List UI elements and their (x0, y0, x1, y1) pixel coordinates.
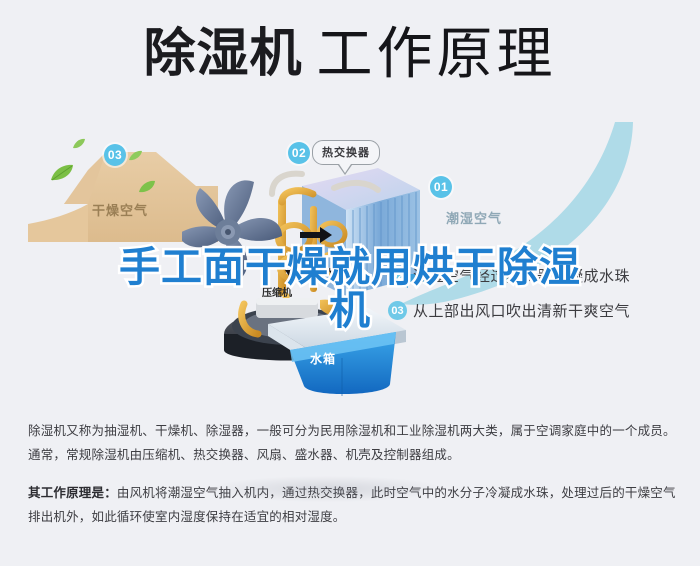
fan-blades (182, 180, 282, 282)
humid-air-label: 潮湿空气 (446, 208, 502, 227)
compressor-label: 压缩机 (262, 284, 292, 299)
page-title-part2: 工作原理 (317, 22, 557, 85)
legend-item: 03 从上部出风口吹出清新干爽空气 (388, 293, 688, 328)
dry-air-label: 干燥空气 (92, 200, 148, 219)
legend-list: 02 潮湿空气经过蒸发器冷凝成水珠 03 从上部出风口吹出清新干爽空气 (388, 258, 688, 328)
page-title-part1: 除湿机 (143, 25, 302, 83)
heat-exchanger-callout: 热交换器 (312, 140, 380, 165)
water-tank-label: 水箱 (310, 350, 336, 367)
paragraph-1: 除湿机又称为抽湿机、干燥机、除湿器，一般可分为民用除湿机和工业除湿机两大类，属于… (28, 419, 676, 468)
diagram-badge-01: 01 (430, 176, 452, 198)
leaf-icon (72, 138, 86, 150)
legend-text-03: 从上部出风口吹出清新干爽空气 (413, 300, 630, 321)
diagram-badge-02: 02 (288, 142, 310, 164)
diagram-badge-03: 03 (104, 144, 126, 166)
infographic-page: 除湿机工作原理 (0, 0, 700, 566)
legend-badge-02: 02 (388, 266, 407, 285)
legend-item: 02 潮湿空气经过蒸发器冷凝成水珠 (388, 258, 688, 293)
legend-badge-03: 03 (388, 301, 407, 320)
leaf-icon (128, 150, 143, 162)
page-title: 除湿机工作原理 (0, 26, 700, 82)
leaf-icon (138, 180, 156, 194)
paragraph-2-lead: 其工作原理是： (28, 486, 117, 500)
leaf-icon (50, 164, 74, 182)
machine-shadow (212, 476, 442, 502)
legend-text-02: 潮湿空气经过蒸发器冷凝成水珠 (413, 265, 630, 286)
